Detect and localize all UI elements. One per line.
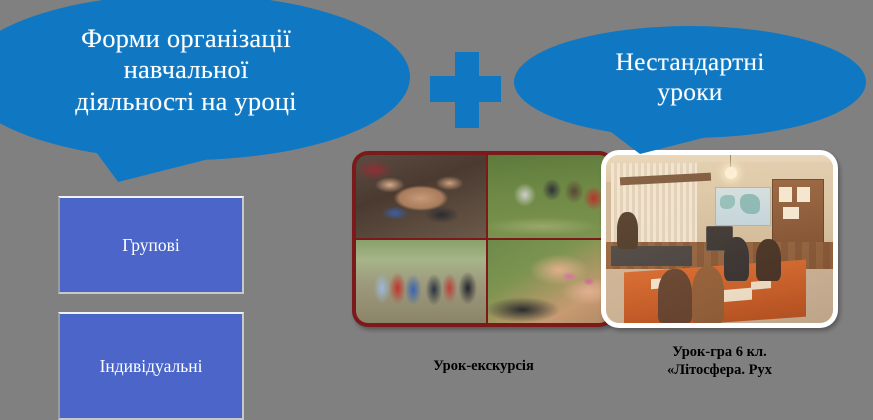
warm-tone-overlay bbox=[606, 155, 833, 323]
callout-line-2: навчальної bbox=[4, 54, 368, 85]
callout-line-1: Форми організації bbox=[4, 23, 368, 54]
kids-on-grass-photo bbox=[488, 155, 611, 238]
plus-horizontal-bar bbox=[430, 76, 501, 102]
hands-circle-photo bbox=[356, 155, 486, 238]
photo-collage-excursion[interactable] bbox=[352, 151, 615, 327]
hands-flower-photo bbox=[488, 240, 611, 323]
callout-nonstandard-lessons[interactable]: Нестандартні уроки bbox=[514, 26, 866, 138]
callout-line-1: Нестандартні bbox=[540, 47, 840, 77]
caption-line-1: Урок-гра 6 кл. bbox=[598, 344, 841, 362]
plus-icon bbox=[430, 52, 501, 128]
caption-line-2: «Літосфера. Рух bbox=[598, 362, 841, 380]
photo-lesson-game[interactable] bbox=[601, 150, 838, 328]
collage-grid bbox=[356, 155, 611, 323]
form-box-group-label: Групові bbox=[122, 235, 180, 256]
callout-line-2: уроки bbox=[540, 77, 840, 107]
callout-text-nonstandard: Нестандартні уроки bbox=[514, 47, 866, 107]
slide-canvas: Форми організації навчальної діяльності … bbox=[0, 0, 873, 420]
group-outdoors-photo bbox=[356, 240, 486, 323]
callout-text-forms: Форми організації навчальної діяльності … bbox=[0, 23, 410, 117]
caption-lesson-game: Урок-гра 6 кл. «Літосфера. Рух bbox=[598, 344, 841, 379]
form-box-individual-label: Індивідуальні bbox=[100, 356, 203, 377]
callout-forms-of-organization[interactable]: Форми організації навчальної діяльності … bbox=[0, 0, 410, 160]
form-box-individual[interactable]: Індивідуальні bbox=[58, 312, 244, 420]
callout-line-3: діяльності на уроці bbox=[4, 86, 368, 117]
classroom-scene bbox=[606, 155, 833, 323]
form-box-group[interactable]: Групові bbox=[58, 196, 244, 294]
caption-excursion: Урок-екскурсія bbox=[352, 358, 615, 376]
